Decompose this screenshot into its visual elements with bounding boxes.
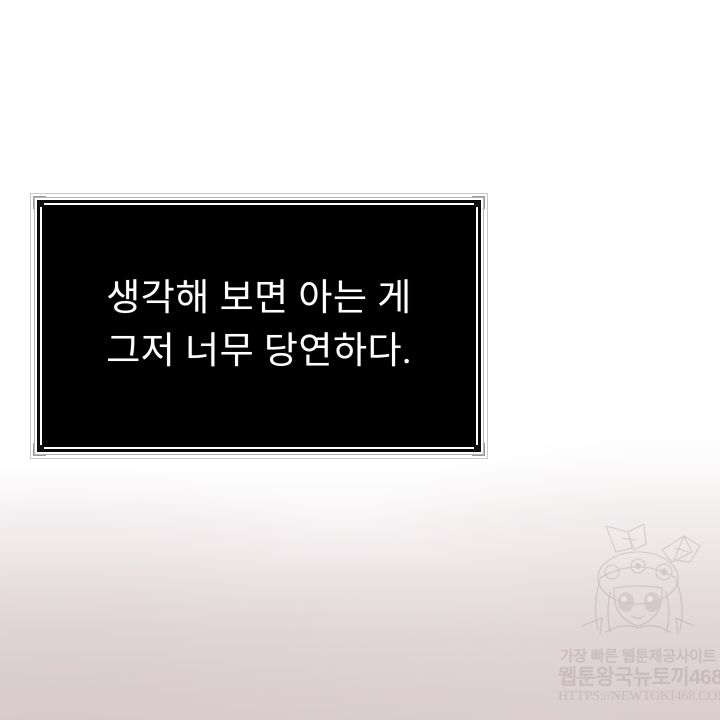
caption-line-1: 생각해 보면 아는 게 — [106, 273, 412, 326]
frame-corner-notch-top-left — [38, 201, 44, 207]
frame-corner-notch-bottom-right — [474, 445, 480, 451]
frame-corner-notch-top-right — [474, 201, 480, 207]
frame-corner-notch-bottom-left — [38, 445, 44, 451]
caption-panel: 생각해 보면 아는 게 그저 너무 당연하다. — [30, 193, 488, 459]
caption-line-2: 그저 너무 당연하다. — [106, 326, 412, 379]
webtoon-panel-page: 생각해 보면 아는 게 그저 너무 당연하다. — [0, 0, 720, 720]
caption-panel-body: 생각해 보면 아는 게 그저 너무 당연하다. — [42, 205, 476, 447]
